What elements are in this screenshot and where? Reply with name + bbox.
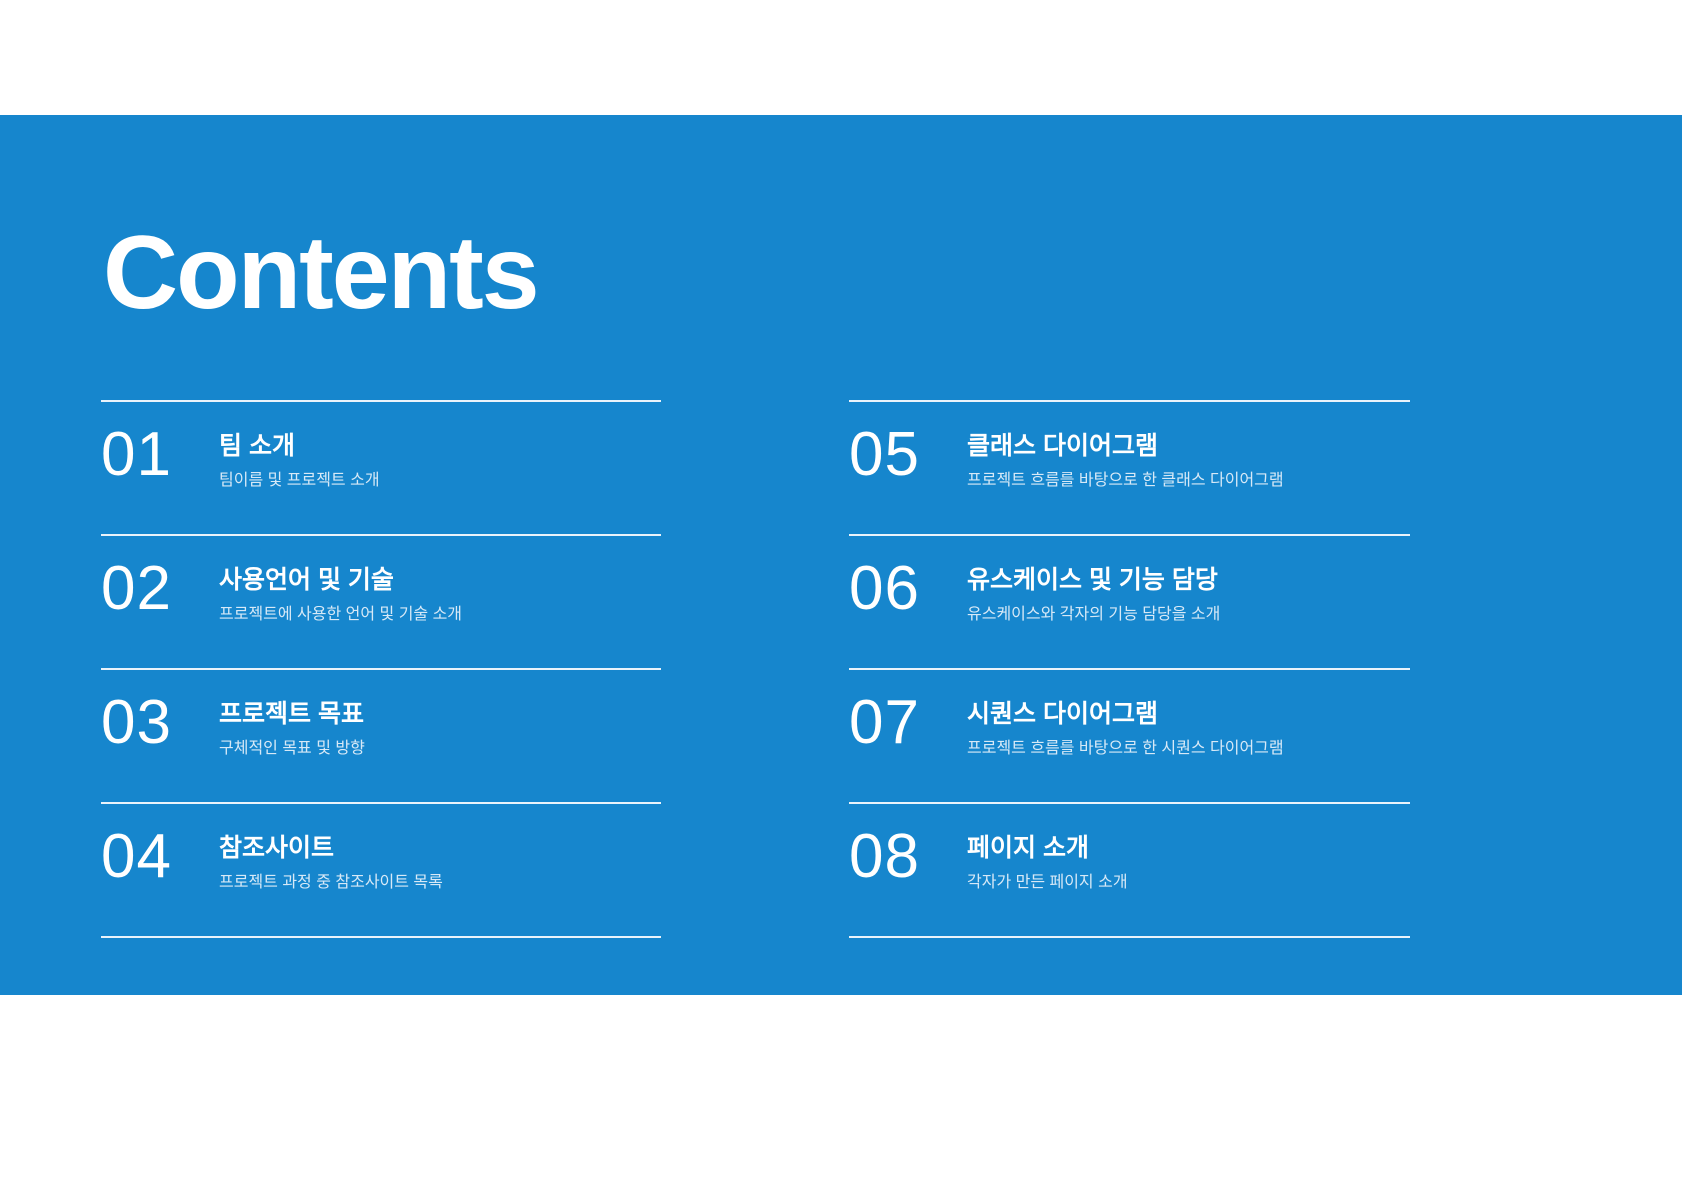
entry-title: 팀 소개 xyxy=(219,430,380,462)
toc-entry-04[interactable]: 04 참조사이트 프로젝트 과정 중 참조사이트 목록 xyxy=(101,802,661,936)
entry-body: 02 사용언어 및 기술 프로젝트에 사용한 언어 및 기술 소개 xyxy=(101,554,462,626)
entry-number: 01 xyxy=(101,420,219,490)
entry-number: 05 xyxy=(849,420,967,490)
toc-entry-01[interactable]: 01 팀 소개 팀이름 및 프로젝트 소개 xyxy=(101,400,661,534)
toc-column-right: 05 클래스 다이어그램 프로젝트 흐름를 바탕으로 한 클래스 다이어그램 0… xyxy=(849,400,1410,938)
entry-body: 07 시퀀스 다이어그램 프로젝트 흐름를 바탕으로 한 시퀀스 다이어그램 xyxy=(849,688,1284,760)
entry-title: 프로젝트 목표 xyxy=(219,698,365,730)
entry-divider xyxy=(101,400,661,402)
toc-entry-02[interactable]: 02 사용언어 및 기술 프로젝트에 사용한 언어 및 기술 소개 xyxy=(101,534,661,668)
entry-text: 시퀀스 다이어그램 프로젝트 흐름를 바탕으로 한 시퀀스 다이어그램 xyxy=(967,688,1284,760)
entry-text: 프로젝트 목표 구체적인 목표 및 방향 xyxy=(219,688,365,760)
toc-entry-08[interactable]: 08 페이지 소개 각자가 만든 페이지 소개 xyxy=(849,802,1410,936)
entry-title: 시퀀스 다이어그램 xyxy=(967,698,1284,730)
entry-text: 참조사이트 프로젝트 과정 중 참조사이트 목록 xyxy=(219,822,443,894)
entry-divider xyxy=(849,802,1410,804)
toc-column-left: 01 팀 소개 팀이름 및 프로젝트 소개 02 사용언어 및 기술 프로젝트에… xyxy=(101,400,661,938)
entry-body: 05 클래스 다이어그램 프로젝트 흐름를 바탕으로 한 클래스 다이어그램 xyxy=(849,420,1284,492)
entry-text: 유스케이스 및 기능 담당 유스케이스와 각자의 기능 담당을 소개 xyxy=(967,554,1220,626)
entry-divider xyxy=(101,668,661,670)
entry-number: 04 xyxy=(101,822,219,892)
toc-entry-03[interactable]: 03 프로젝트 목표 구체적인 목표 및 방향 xyxy=(101,668,661,802)
entry-subtitle: 프로젝트 흐름를 바탕으로 한 시퀀스 다이어그램 xyxy=(967,738,1284,760)
entry-divider xyxy=(849,668,1410,670)
entry-body: 03 프로젝트 목표 구체적인 목표 및 방향 xyxy=(101,688,365,760)
entry-number: 08 xyxy=(849,822,967,892)
entry-body: 01 팀 소개 팀이름 및 프로젝트 소개 xyxy=(101,420,380,492)
page-title: Contents xyxy=(103,218,538,328)
entry-title: 사용언어 및 기술 xyxy=(219,564,462,596)
entry-number: 03 xyxy=(101,688,219,758)
entry-number: 07 xyxy=(849,688,967,758)
entry-title: 참조사이트 xyxy=(219,832,443,864)
entry-body: 06 유스케이스 및 기능 담당 유스케이스와 각자의 기능 담당을 소개 xyxy=(849,554,1220,626)
entry-divider xyxy=(849,534,1410,536)
toc-entry-06[interactable]: 06 유스케이스 및 기능 담당 유스케이스와 각자의 기능 담당을 소개 xyxy=(849,534,1410,668)
entry-subtitle: 구체적인 목표 및 방향 xyxy=(219,738,365,760)
entry-title: 페이지 소개 xyxy=(967,832,1128,864)
entry-subtitle: 프로젝트 과정 중 참조사이트 목록 xyxy=(219,872,443,894)
entry-subtitle: 프로젝트 흐름를 바탕으로 한 클래스 다이어그램 xyxy=(967,470,1284,492)
column-end-divider xyxy=(101,936,661,938)
entry-title: 유스케이스 및 기능 담당 xyxy=(967,564,1220,596)
entry-text: 클래스 다이어그램 프로젝트 흐름를 바탕으로 한 클래스 다이어그램 xyxy=(967,420,1284,492)
entry-divider xyxy=(101,534,661,536)
entry-subtitle: 팀이름 및 프로젝트 소개 xyxy=(219,470,380,492)
entry-subtitle: 프로젝트에 사용한 언어 및 기술 소개 xyxy=(219,604,462,626)
entry-divider xyxy=(101,802,661,804)
entry-title: 클래스 다이어그램 xyxy=(967,430,1284,462)
entry-text: 사용언어 및 기술 프로젝트에 사용한 언어 및 기술 소개 xyxy=(219,554,462,626)
entry-subtitle: 유스케이스와 각자의 기능 담당을 소개 xyxy=(967,604,1220,626)
entry-text: 페이지 소개 각자가 만든 페이지 소개 xyxy=(967,822,1128,894)
entry-divider xyxy=(849,400,1410,402)
entry-body: 04 참조사이트 프로젝트 과정 중 참조사이트 목록 xyxy=(101,822,443,894)
entry-text: 팀 소개 팀이름 및 프로젝트 소개 xyxy=(219,420,380,492)
entry-subtitle: 각자가 만든 페이지 소개 xyxy=(967,872,1128,894)
column-end-divider xyxy=(849,936,1410,938)
contents-slide: Contents 01 팀 소개 팀이름 및 프로젝트 소개 02 사용언어 및… xyxy=(0,0,1682,1190)
entry-number: 02 xyxy=(101,554,219,624)
entry-number: 06 xyxy=(849,554,967,624)
toc-entry-07[interactable]: 07 시퀀스 다이어그램 프로젝트 흐름를 바탕으로 한 시퀀스 다이어그램 xyxy=(849,668,1410,802)
toc-entry-05[interactable]: 05 클래스 다이어그램 프로젝트 흐름를 바탕으로 한 클래스 다이어그램 xyxy=(849,400,1410,534)
entry-body: 08 페이지 소개 각자가 만든 페이지 소개 xyxy=(849,822,1128,894)
